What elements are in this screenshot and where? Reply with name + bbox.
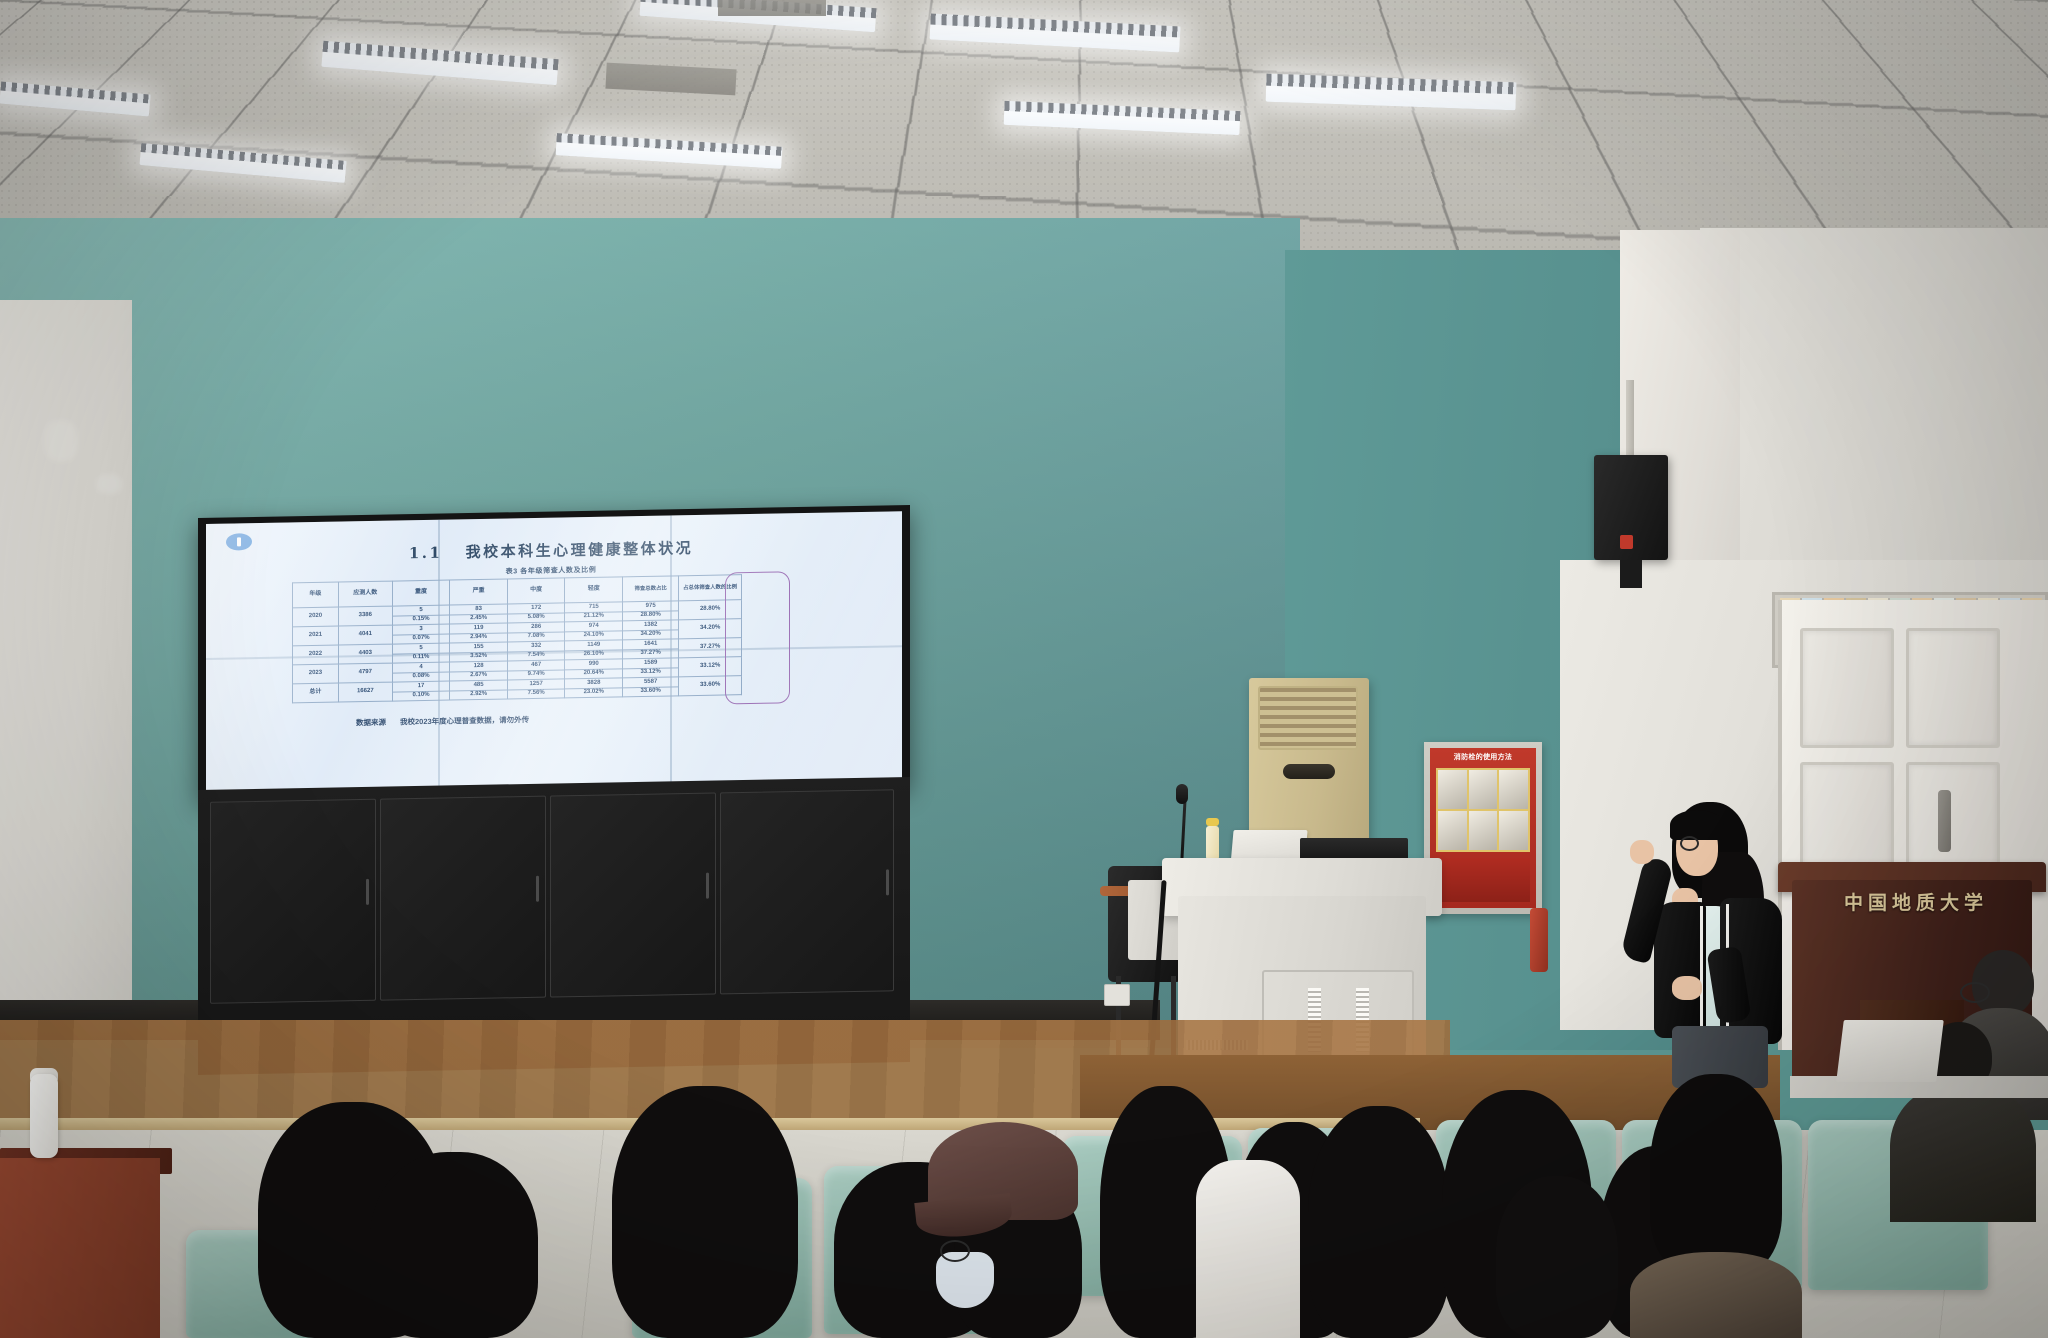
cell-total: 16627 bbox=[338, 682, 392, 702]
cell-ratio: 33.60% bbox=[679, 676, 742, 696]
cell-mild: 114926.10% bbox=[565, 640, 623, 660]
wall-mark bbox=[96, 474, 122, 494]
slide-title: 1.1 我校本科生心理健康整体状况 bbox=[336, 536, 766, 565]
source-text: 我校2023年度心理普查数据，请勿外传 bbox=[400, 715, 529, 726]
slide-source-note: 数据来源我校2023年度心理普查数据，请勿外传 bbox=[356, 714, 529, 728]
audience-hair bbox=[1650, 1074, 1782, 1274]
col-grade: 年级 bbox=[293, 582, 339, 608]
col-mild: 轻度 bbox=[565, 577, 623, 603]
university-name-sign: 中国地质大学 bbox=[1812, 888, 2020, 915]
cell-mild: 382823.02% bbox=[565, 678, 623, 698]
thermos-bottle[interactable] bbox=[30, 1074, 58, 1158]
cell-mild: 99020.64% bbox=[565, 659, 623, 679]
cell-sum: 164137.27% bbox=[623, 639, 679, 659]
audience-member bbox=[370, 1152, 538, 1338]
foreground-table bbox=[0, 1158, 160, 1338]
cell-severe: 40.08% bbox=[392, 662, 450, 682]
slide-section-number: 1.1 bbox=[409, 544, 443, 563]
speaker-bracket bbox=[1620, 560, 1642, 588]
col-total: 应测人数 bbox=[338, 581, 392, 607]
audience-member-capped bbox=[920, 1122, 1102, 1338]
cell-moderate: 1725.08% bbox=[507, 603, 565, 623]
poster-instruction-images bbox=[1436, 768, 1530, 852]
lecture-hall-photo: 1.1 我校本科生心理健康整体状况 表3 各年级筛查人数及比例 年级 应测人数 … bbox=[0, 0, 2048, 1338]
cell-severe: 50.11% bbox=[392, 643, 450, 663]
cell-moderate: 2867.08% bbox=[507, 622, 565, 642]
col-serious: 严重 bbox=[450, 579, 508, 605]
audience-member-right bbox=[1490, 1176, 1624, 1338]
speaker-logo-icon bbox=[1620, 535, 1633, 549]
presenter-cardigan-left bbox=[1654, 902, 1706, 1038]
cell-grade: 2023 bbox=[293, 664, 339, 684]
presenter-raised-hand bbox=[1630, 840, 1654, 864]
slide-badge-icon bbox=[226, 533, 252, 550]
ceiling-vent bbox=[718, 0, 826, 16]
cell-ratio: 33.12% bbox=[679, 657, 742, 677]
glasses-icon bbox=[1680, 836, 1699, 851]
audience-shoulders bbox=[1630, 1252, 1802, 1338]
audience-member bbox=[1308, 1106, 1450, 1338]
cell-severe: 50.15% bbox=[392, 605, 450, 625]
door-handle[interactable] bbox=[1938, 790, 1951, 852]
door-panel bbox=[1800, 628, 1894, 748]
col-severe: 重度 bbox=[392, 580, 450, 606]
presenter-hand bbox=[1672, 976, 1702, 1000]
speaker-mount-rod bbox=[1626, 380, 1634, 458]
cell-grade: 2022 bbox=[293, 645, 339, 665]
face-mask bbox=[936, 1252, 994, 1308]
door-panel bbox=[1906, 628, 2000, 748]
ac-grille bbox=[1258, 686, 1358, 750]
poster-footer bbox=[1436, 858, 1530, 902]
cell-serious: 1282.67% bbox=[450, 661, 508, 681]
cell-grade: 2021 bbox=[293, 626, 339, 646]
water-bottle[interactable] bbox=[1206, 826, 1219, 860]
cell-total: 4403 bbox=[338, 644, 392, 664]
projection-screen[interactable]: 1.1 我校本科生心理健康整体状况 表3 各年级筛查人数及比例 年级 应测人数 … bbox=[206, 511, 902, 792]
ac-display-panel[interactable] bbox=[1283, 764, 1335, 779]
cell-severe: 30.07% bbox=[392, 624, 450, 644]
cell-ratio: 34.20% bbox=[679, 619, 742, 639]
side-laptop[interactable] bbox=[1836, 1020, 1944, 1082]
cell-mild: 97424.10% bbox=[565, 621, 623, 641]
cell-serious: 832.45% bbox=[450, 604, 508, 624]
wall-mark bbox=[44, 420, 78, 462]
fire-extinguisher bbox=[1530, 908, 1548, 972]
presentation-slide: 1.1 我校本科生心理健康整体状况 表3 各年级筛查人数及比例 年级 应测人数 … bbox=[206, 511, 902, 792]
poster-title: 消防栓的使用方法 bbox=[1432, 752, 1534, 762]
col-moderate: 中度 bbox=[507, 578, 565, 604]
cell-total: 3386 bbox=[338, 606, 392, 626]
cell-mild: 71521.12% bbox=[565, 602, 623, 622]
col-ratio: 占总体筛查人数的比例 bbox=[679, 575, 742, 601]
cell-ratio: 37.27% bbox=[679, 638, 742, 658]
glasses-icon bbox=[1960, 982, 1990, 1003]
cell-sum: 558733.60% bbox=[623, 677, 679, 697]
cell-moderate: 3327.54% bbox=[507, 641, 565, 661]
cell-serious: 1553.52% bbox=[450, 642, 508, 662]
left-wall bbox=[0, 300, 132, 1040]
cell-grade: 2020 bbox=[293, 607, 339, 627]
bottle-cap bbox=[1206, 818, 1219, 826]
audience-member bbox=[612, 1086, 798, 1338]
cardigan-trim bbox=[1700, 906, 1703, 1034]
cell-ratio: 28.80% bbox=[679, 600, 742, 620]
cell-sum: 97528.80% bbox=[623, 601, 679, 621]
cell-sum: 138234.20% bbox=[623, 620, 679, 640]
presenter-fringe bbox=[1670, 810, 1724, 840]
audience-shoulders bbox=[1890, 1082, 2036, 1222]
cell-moderate: 4679.74% bbox=[507, 660, 565, 680]
source-label: 数据来源 bbox=[356, 718, 386, 728]
cell-sum: 158933.12% bbox=[623, 658, 679, 678]
audience-member-white-top bbox=[1196, 1160, 1300, 1338]
cell-serious: 1192.94% bbox=[450, 623, 508, 643]
wall-outlet[interactable] bbox=[1104, 984, 1130, 1006]
cell-moderate: 12577.56% bbox=[507, 679, 565, 699]
audience-hair bbox=[1496, 1176, 1618, 1338]
presenter bbox=[1616, 798, 1816, 1088]
cell-severe: 170.10% bbox=[392, 681, 450, 701]
slide-title-text: 我校本科生心理健康整体状况 bbox=[466, 539, 694, 561]
slide-data-table: 年级 应测人数 重度 严重 中度 轻度 筛查总数占比 占总体筛查人数的比例 20… bbox=[292, 574, 742, 703]
audience-member-right bbox=[1640, 1074, 1790, 1338]
cell-serious: 4852.92% bbox=[450, 680, 508, 700]
microphone-icon[interactable] bbox=[1176, 784, 1188, 804]
cell-grade: 总计 bbox=[293, 683, 339, 703]
col-sum: 筛查总数占比 bbox=[623, 576, 679, 602]
glasses-icon bbox=[940, 1240, 970, 1262]
cell-total: 4797 bbox=[338, 663, 392, 683]
table-body: 2020338650.15%832.45%1725.08%71521.12%97… bbox=[293, 600, 742, 703]
cell-total: 4041 bbox=[338, 625, 392, 645]
